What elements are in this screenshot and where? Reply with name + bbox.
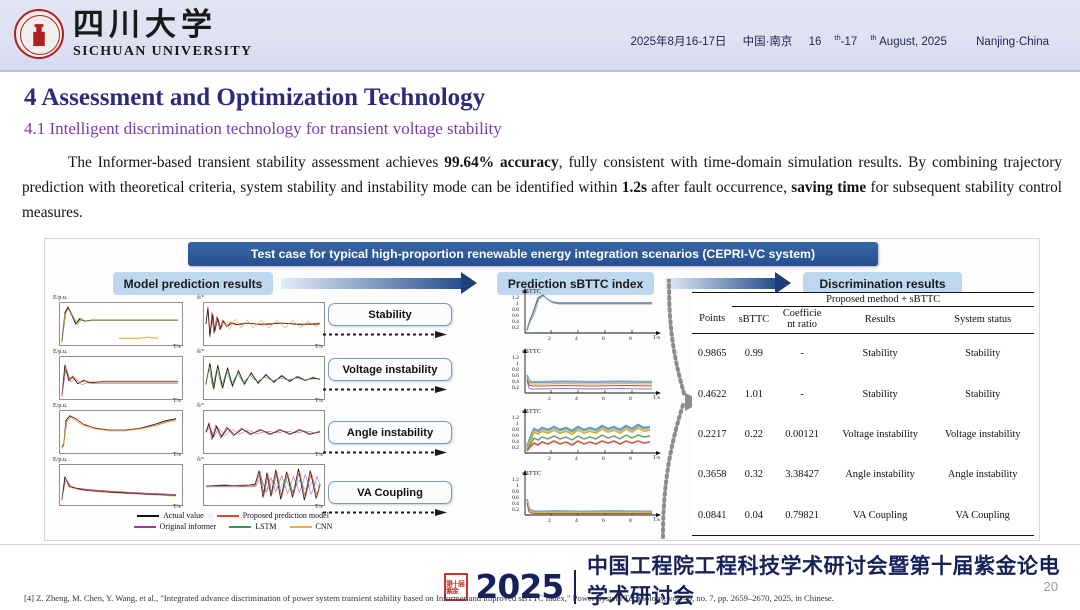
axis-label-x-6: T/s [315,452,323,458]
legend-label-original-informer: Original informer [160,522,217,531]
axis-label-x-1: T/s [173,344,181,350]
svg-text:8: 8 [629,456,632,461]
cell-sbttc: 1.01 [732,374,775,414]
axis-label-x-8: T/s [315,504,323,510]
cell-status: Stability [931,334,1034,374]
table-header-row: Points sBTTC Coefficient ratio Results S… [692,307,1034,334]
cell-status: VA Coupling [931,495,1034,535]
header-date-en: 16th-17th August, 2025 [809,36,960,48]
table-group-empty-cell [692,293,732,307]
body-paragraph: The Informer-based transient stability a… [22,150,1062,225]
cell-sbttc: 0.22 [732,414,775,454]
condition-arrow-voltage-instability-icon [323,386,451,393]
slide-header: 四川大学 SICHUAN UNIVERSITY 2025年8月16-17日 中国… [0,0,1080,72]
condition-arrow-stability-icon [323,331,451,338]
svg-text:4: 4 [575,518,578,523]
axis-label-e-4: E/p.u. [53,457,67,463]
university-name-block: 四川大学 SICHUAN UNIVERSITY [73,9,252,60]
svg-text:0.2: 0.2 [512,385,519,391]
table-row: 0.9865 0.99 - Stability Stability [692,334,1034,374]
svg-text:6: 6 [602,456,605,461]
condition-box-voltage-instability[interactable]: Voltage instability [328,358,452,381]
cell-points: 0.0841 [692,495,732,535]
axis-label-x-7: T/s [173,504,181,510]
table-col-coefficient-ratio: Coefficient ratio [775,307,828,334]
svg-text:8: 8 [629,336,632,341]
university-name-cn: 四川大学 [73,9,252,42]
cell-points: 0.4622 [692,374,732,414]
university-logo: 四川大学 SICHUAN UNIVERSITY [14,9,252,60]
cell-coeff: 0.79821 [775,495,828,535]
sichuan-university-seal-icon [14,9,64,59]
slide: 四川大学 SICHUAN UNIVERSITY 2025年8月16-17日 中国… [0,0,1080,610]
svg-text:4: 4 [575,456,578,461]
cell-results: Angle instability [829,455,932,495]
svg-text:2: 2 [548,396,551,401]
legend-swatch-cnn [290,526,312,528]
svg-text:2: 2 [548,456,551,461]
table-group-header: Proposed method + sBTTC [732,293,1034,307]
axis-label-delta-1: δ/° [197,295,204,301]
chart-sbttc-stability: sBTTC 1.2 1 0.8 0.6 0.4 0.2 T/s 2 4 6 [512,285,667,341]
flow-arrowhead-2-icon [775,272,791,294]
cell-status: Voltage instability [931,414,1034,454]
axis-label-x-5: T/s [173,452,181,458]
svg-text:0.2: 0.2 [512,507,519,513]
legend-label-actual-value: Actual value [163,511,204,520]
cell-coeff: 3.38427 [775,455,828,495]
legend-item-original-informer: Original informer [134,522,217,531]
stage-model-prediction-results: Model prediction results [113,272,273,295]
cell-points: 0.3658 [692,455,732,495]
plot-voltage-stable-1 [59,302,183,346]
header-event-meta: 2025年8月16-17日 中国·南京 16th-17th August, 20… [630,33,1062,49]
legend-row-2: Original informer LSTM CNN [103,522,363,531]
axis-label-e-1: E/p.u. [53,295,67,301]
flow-arrow-1 [281,278,461,289]
legend-swatch-proposed-model [217,515,239,517]
axis-label-delta-4: δ/° [197,457,204,463]
plot-angle-stable-1 [203,302,325,346]
plot-angle-coupling-2 [203,464,325,506]
axis-label-x-4: T/s [315,398,323,404]
plot-angle-instability-1 [203,356,325,400]
plot-voltage-coupling-1 [59,464,183,506]
cell-results: VA Coupling [829,495,932,535]
chart-sbttc-va-coupling: sBTTC 1.2 1 0.8 0.6 0.4 0.2 T/s 2 4 6 [512,467,667,523]
table-col-system-status: System status [931,307,1034,334]
legend-label-cnn: CNN [316,522,333,531]
cell-sbttc: 0.99 [732,334,775,374]
svg-text:8: 8 [629,518,632,523]
axis-label-e-2: E/p.u. [53,349,67,355]
svg-text:6: 6 [602,396,605,401]
axis-label-x-3: T/s [173,398,181,404]
legend-item-cnn: CNN [290,522,333,531]
cell-status: Stability [931,374,1034,414]
axis-label-delta-3: δ/° [197,403,204,409]
header-place-cn: 中国·南京 [743,36,793,48]
university-name-en: SICHUAN UNIVERSITY [73,44,252,60]
figure-panel: Test case for typical high-proportion re… [44,238,1040,541]
svg-text:4: 4 [575,336,578,341]
table-row: 0.2217 0.22 0.00121 Voltage instability … [692,414,1034,454]
cell-status: Angle instability [931,455,1034,495]
legend-label-proposed-model: Proposed prediction model [243,511,329,520]
header-date-cn: 2025年8月16-17日 [630,36,726,48]
legend-item-lstm: LSTM [229,522,276,531]
svg-text:8: 8 [629,396,632,401]
table-row: 0.4622 1.01 - Stability Stability [692,374,1034,414]
axis-label-delta-2: δ/° [197,349,204,355]
table-row: 0.3658 0.32 3.38427 Angle instability An… [692,455,1034,495]
plot-voltage-angle-1 [59,410,183,454]
svg-text:0.2: 0.2 [512,325,519,331]
svg-text:2: 2 [548,336,551,341]
cell-results: Stability [829,374,932,414]
chart-sbttc-voltage-instability: sBTTC 1.2 1 0.8 0.6 0.4 0.2 T/s 2 4 6 [512,345,667,401]
cell-coeff: - [775,334,828,374]
page-title: 4 Assessment and Optimization Technology [24,84,485,112]
legend-item-actual-value: Actual value [137,511,204,520]
svg-text:6: 6 [602,336,605,341]
svg-text:2: 2 [548,518,551,523]
condition-box-va-coupling[interactable]: VA Coupling [328,481,452,504]
plot-angle-coupling-1 [203,410,325,454]
flow-arrowhead-1-icon [461,272,477,294]
chart-sbttc-angle-instability: sBTTC 1.2 1 0.8 0.6 0.4 0.2 T/s 2 4 6 [512,405,667,461]
cell-results: Voltage instability [829,414,932,454]
axis-label-x-2: T/s [315,344,323,350]
plot-voltage-instability-1 [59,356,183,400]
page-subtitle: 4.1 Intelligent discrimination technolog… [24,119,502,139]
legend-item-proposed-model: Proposed prediction model [217,511,329,520]
svg-text:0.2: 0.2 [512,445,519,451]
cell-results: Stability [829,334,932,374]
condition-box-stability[interactable]: Stability [328,303,452,326]
cell-points: 0.9865 [692,334,732,374]
seal-glyph-icon [31,22,48,46]
table-col-results: Results [829,307,932,334]
svg-text:6: 6 [602,518,605,523]
condition-box-angle-instability[interactable]: Angle instability [328,421,452,444]
page-number: 20 [1044,579,1058,594]
table-group-header-row: Proposed method + sBTTC [692,293,1034,307]
cell-points: 0.2217 [692,414,732,454]
legend-swatch-actual-value [137,515,159,517]
reference-citation: [4] Z. Zheng, M. Chen, Y. Wang, et al., … [24,593,1024,603]
cell-coeff: 0.00121 [775,414,828,454]
table-row: 0.0841 0.04 0.79821 VA Coupling VA Coupl… [692,495,1034,535]
header-place-en: Nanjing·China [976,36,1049,48]
table-col-points: Points [692,307,732,334]
table-col-sbttc: sBTTC [732,307,775,334]
axis-label-e-3: E/p.u. [53,403,67,409]
cell-sbttc: 0.32 [732,455,775,495]
legend-swatch-original-informer [134,526,156,528]
cell-sbttc: 0.04 [732,495,775,535]
slide-footer: 第十届紫金 2025 中国工程院工程科技学术研讨会暨第十届紫金论电学术研讨会 E… [0,544,1080,610]
figure-banner: Test case for typical high-proportion re… [188,242,878,266]
condition-arrow-angle-instability-icon [323,449,451,456]
cell-coeff: - [775,374,828,414]
legend-swatch-lstm [229,526,251,528]
condition-arrow-va-coupling-icon [323,509,451,516]
svg-text:4: 4 [575,396,578,401]
legend-label-lstm: LSTM [255,522,276,531]
discrimination-results-table: Proposed method + sBTTC Points sBTTC Coe… [692,292,1034,536]
